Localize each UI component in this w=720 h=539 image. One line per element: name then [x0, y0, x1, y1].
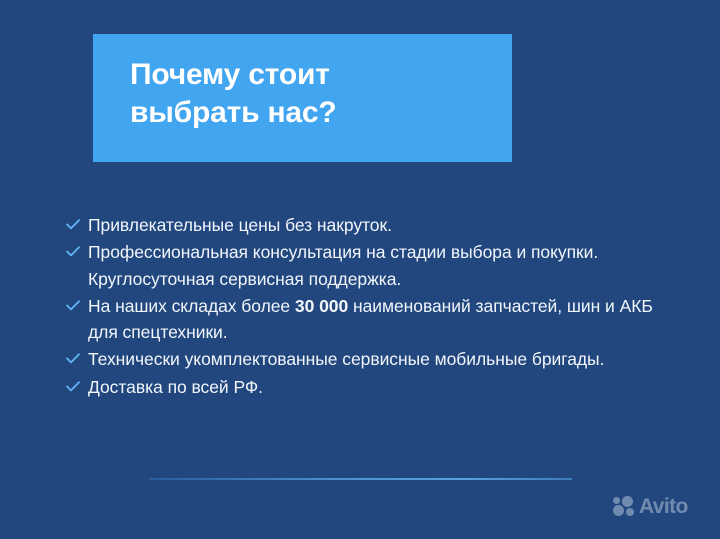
check-icon	[66, 213, 82, 235]
list-item: Доставка по всей РФ.	[66, 374, 666, 400]
list-item-text: Технически укомплектованные сервисные мо…	[88, 349, 604, 369]
avito-watermark: Avito	[613, 496, 688, 517]
slide-canvas: Почему стоит выбрать нас? Привлекательны…	[0, 0, 720, 539]
list-item: Технически укомплектованные сервисные мо…	[66, 346, 666, 372]
check-icon	[66, 375, 82, 397]
benefits-list: Привлекательные цены без накруток. Профе…	[66, 212, 666, 401]
section-divider	[149, 478, 572, 480]
avito-wordmark: Avito	[639, 496, 688, 517]
check-icon	[66, 294, 82, 316]
list-item-text: Привлекательные цены без накруток.	[88, 215, 392, 235]
list-item: Привлекательные цены без накруток.	[66, 212, 666, 238]
heading-banner: Почему стоит выбрать нас?	[93, 34, 512, 162]
check-icon	[66, 347, 82, 369]
list-item: На наших складах более 30 000 наименован…	[66, 293, 666, 346]
list-item: Профессиональная консультация на стадии …	[66, 239, 666, 292]
list-item-text: Доставка по всей РФ.	[88, 377, 263, 397]
list-item-text: На наших складах более 30 000 наименован…	[88, 296, 653, 342]
check-icon	[66, 240, 82, 262]
page-title: Почему стоит выбрать нас?	[130, 56, 490, 133]
list-item-text: Профессиональная консультация на стадии …	[88, 242, 598, 288]
avito-dots-logo-icon	[613, 496, 635, 517]
